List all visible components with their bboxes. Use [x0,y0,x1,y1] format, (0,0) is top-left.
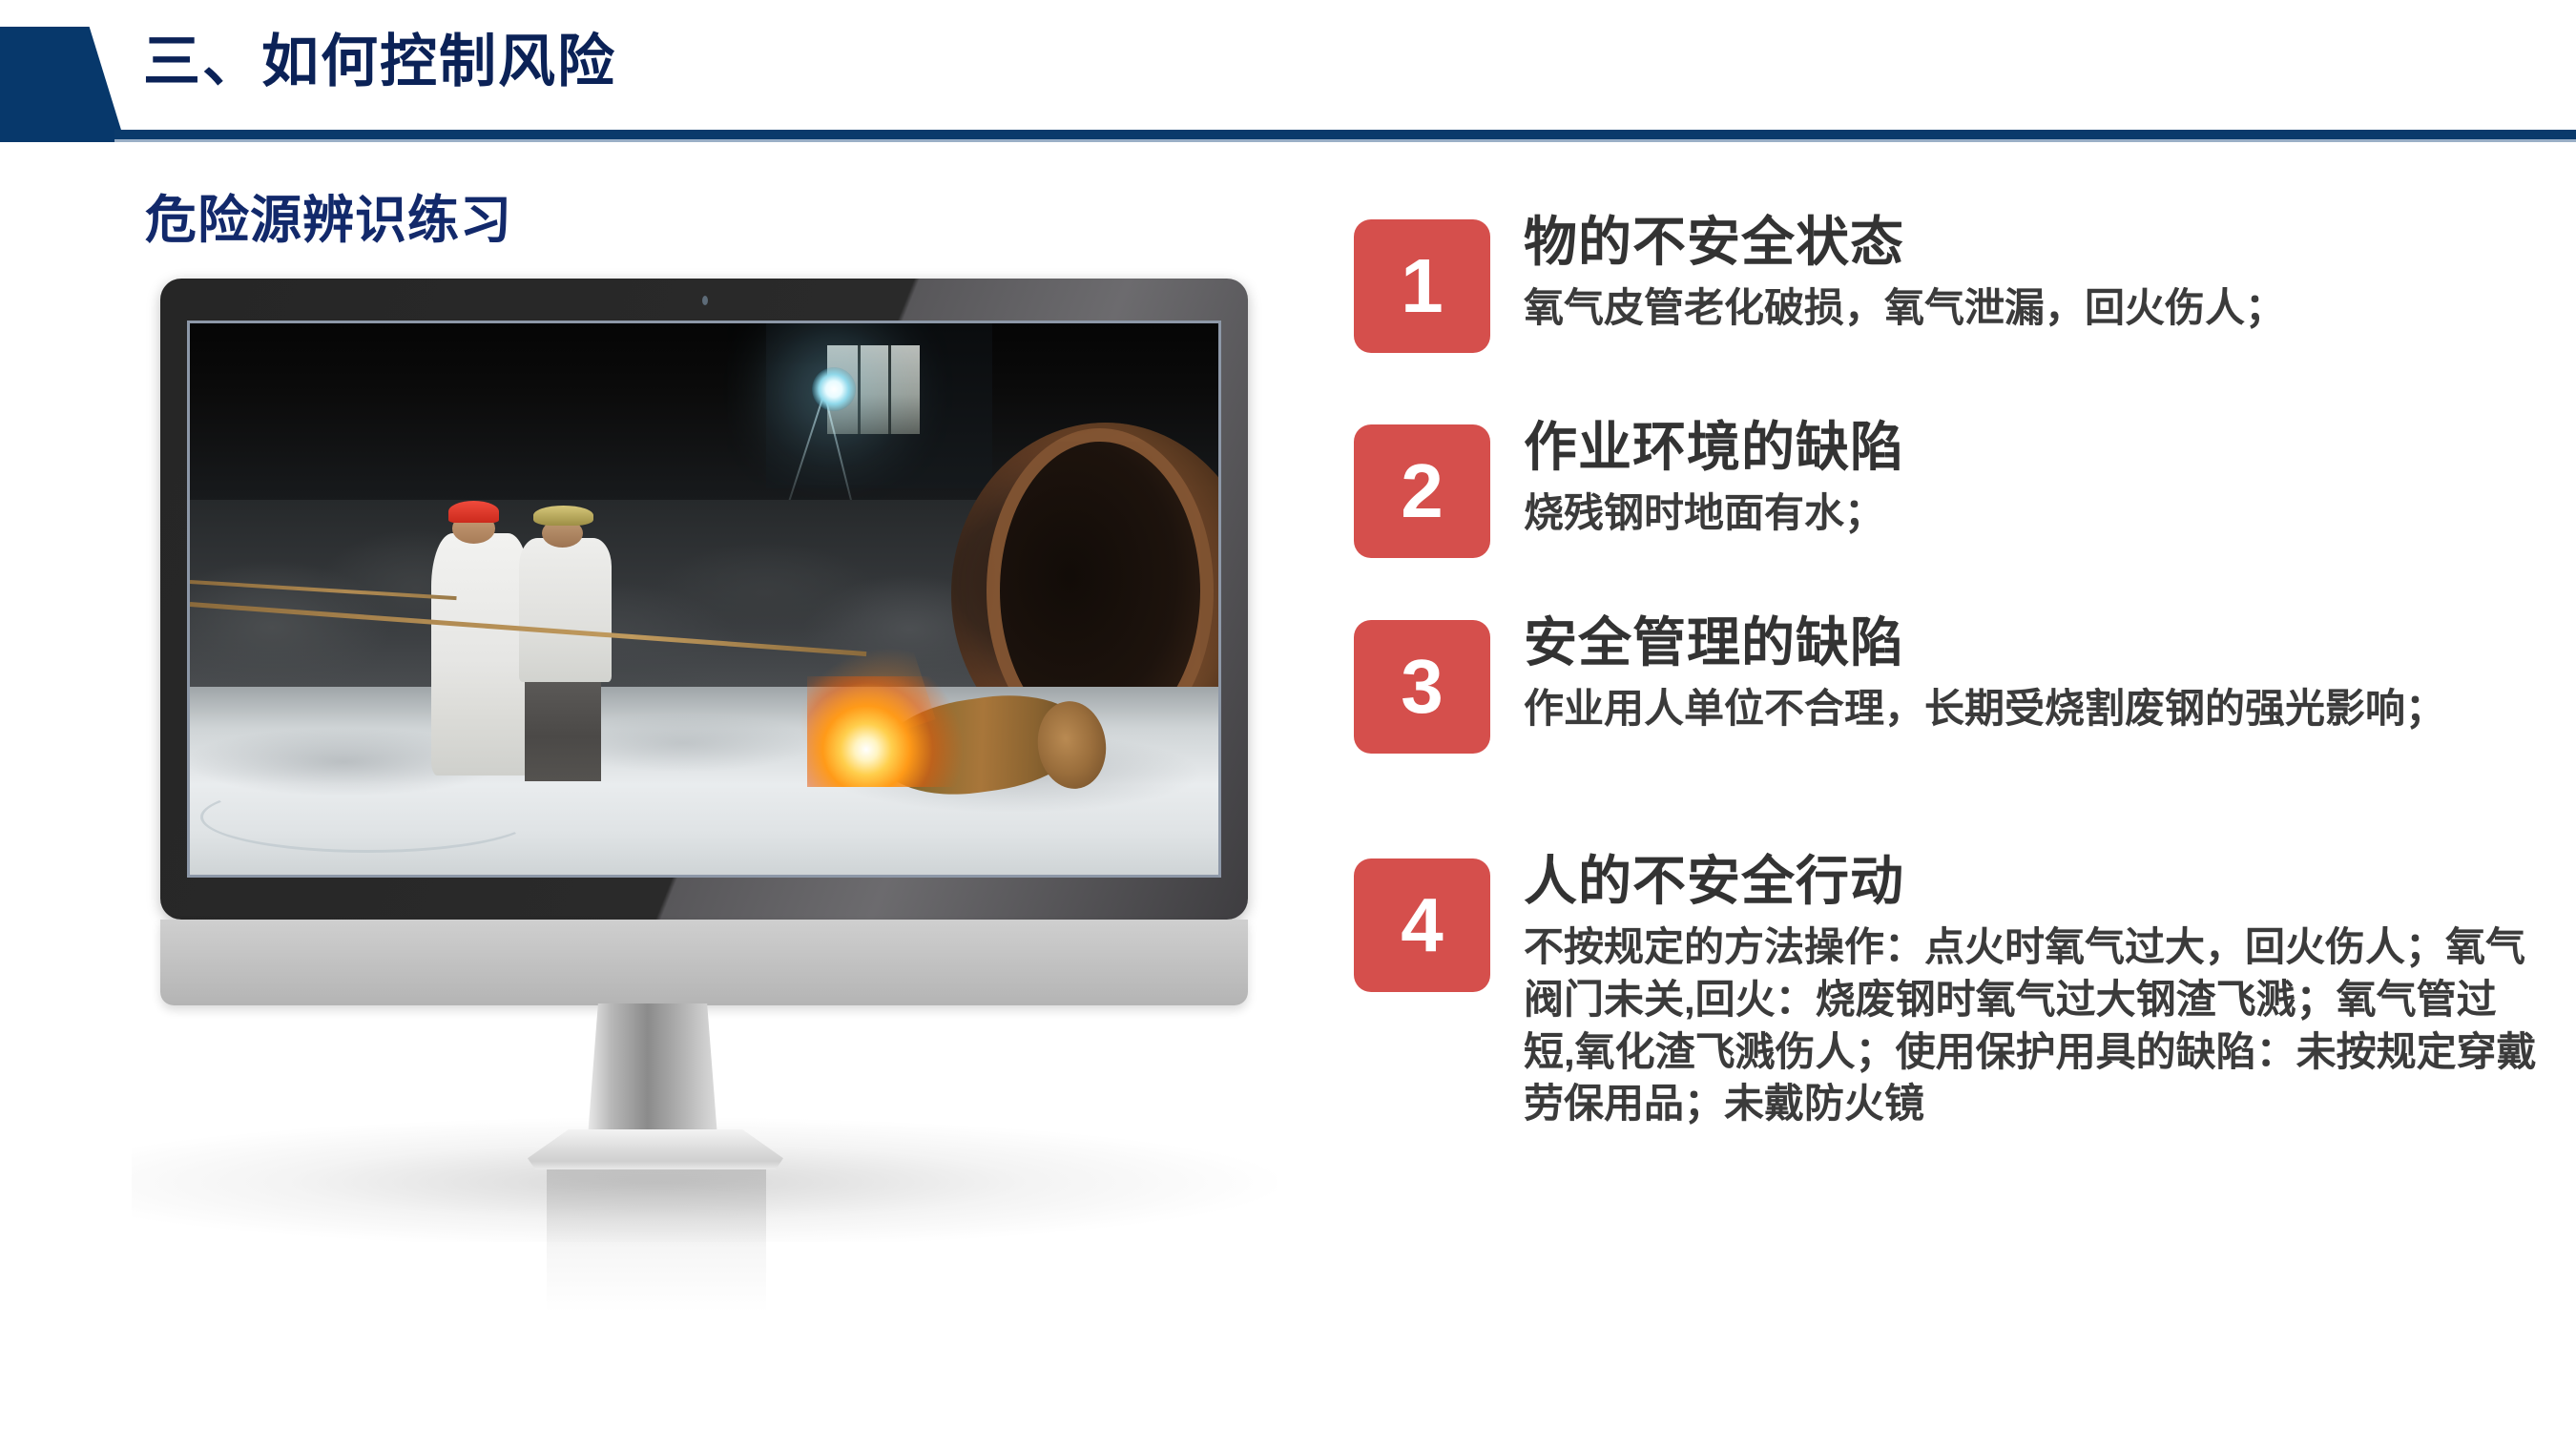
list-item-badge-4: 4 [1354,858,1490,992]
list-item-title: 人的不安全行动 [1524,853,2545,910]
header-accent-shape [0,27,124,139]
section-subtitle: 危险源辨识练习 [145,177,512,253]
webcam-icon [702,296,708,305]
list-item-desc: 不按规定的方法操作：点火时氧气过大，回火伤人；氧气阀门未关,回火：烧废钢时氧气过… [1524,921,2545,1129]
photo-window-mullion [888,345,891,433]
photo-worker-two [519,538,612,681]
list-item-desc: 烧残钢时地面有水； [1524,487,2545,540]
list-item-desc: 氧气皮管老化破损，氧气泄漏，回火伤人； [1524,282,2545,335]
page-title: 三、如何控制风险 [143,15,616,98]
monitor-reflection [547,1169,766,1313]
list-item-badge-3: 3 [1354,620,1490,754]
list-item-badge-1: 1 [1354,219,1490,353]
photo-hose-coil [200,781,535,853]
list-item-desc: 作业用人单位不合理，长期受烧割废钢的强光影响； [1524,683,2545,735]
site-photo [190,323,1218,875]
list-item-body: 作业环境的缺陷 烧残钢时地面有水； [1524,419,2545,540]
monitor-bezel [160,279,1248,920]
header-divider-cap [0,130,114,142]
list-item-body: 人的不安全行动 不按规定的方法操作：点火时氧气过大，回火伤人；氧气阀门未关,回火… [1524,853,2545,1130]
monitor-stand-neck [588,1003,717,1137]
list-item-title: 作业环境的缺陷 [1524,419,2545,476]
list-item-body: 物的不安全状态 氧气皮管老化破损，氧气泄漏，回火伤人； [1524,214,2545,335]
monitor-stand-base [528,1129,783,1169]
list-item-title: 物的不安全状态 [1524,214,2545,271]
slide-header: 三、如何控制风险 [0,0,2576,141]
photo-red-helmet [448,501,500,523]
list-item-body: 安全管理的缺陷 作业用人单位不合理，长期受烧割废钢的强光影响； [1524,614,2545,735]
photo-welding-mask [533,506,593,526]
monitor-illustration [160,279,1405,1232]
photo-window-mullion [858,345,861,433]
monitor-chin [160,920,1248,1005]
photo-worker-two-legs [525,671,601,781]
list-item-badge-2: 2 [1354,424,1490,558]
monitor-screen [187,321,1221,878]
list-item-title: 安全管理的缺陷 [1524,614,2545,672]
photo-cutting-sparks [807,676,971,787]
photo-worker-one [431,533,529,776]
header-divider [0,130,2576,142]
